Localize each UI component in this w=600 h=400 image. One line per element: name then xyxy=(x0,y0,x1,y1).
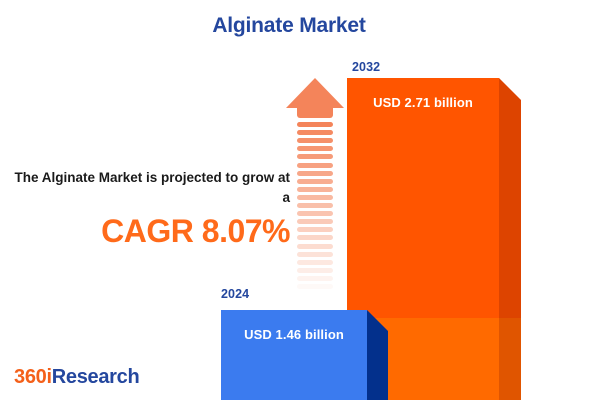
up-arrow-rung xyxy=(297,260,333,265)
page-title: Alginate Market xyxy=(0,14,578,38)
up-arrow-rung xyxy=(297,154,333,159)
brand-logo-suffix: Research xyxy=(52,366,140,388)
cagr-lead-text: The Alginate Market is projected to grow… xyxy=(12,168,290,207)
up-arrow-rung xyxy=(297,138,333,143)
up-arrow-rung xyxy=(297,171,333,176)
up-arrow-rung xyxy=(297,187,333,192)
brand-logo-prefix: 360i xyxy=(14,366,52,388)
brand-logo[interactable]: 360iResearch xyxy=(14,366,139,389)
up-arrow-rung xyxy=(297,163,333,168)
up-arrow-rung xyxy=(297,122,333,127)
up-arrow-rung xyxy=(297,146,333,151)
infographic-canvas: Alginate Market 2032 USD 2.71 billion 20… xyxy=(0,0,600,400)
up-arrow-rung xyxy=(297,203,333,208)
up-arrow-rung xyxy=(297,268,333,273)
bar-2032-side-face-lower xyxy=(499,318,521,400)
up-arrow-rung xyxy=(297,244,333,249)
up-arrow-rung xyxy=(297,276,333,281)
bar-2024-front-face xyxy=(221,310,367,400)
up-arrow-rung xyxy=(297,284,333,289)
bar-2032-value-label: USD 2.71 billion xyxy=(347,95,499,110)
up-arrow-icon xyxy=(286,78,344,294)
up-arrow-neck xyxy=(297,106,333,118)
up-arrow-rung xyxy=(297,235,333,240)
bar-2032-category-label: 2032 xyxy=(352,60,380,74)
up-arrow-rung xyxy=(297,211,333,216)
up-arrow-rung xyxy=(297,292,333,297)
up-arrow-rung xyxy=(297,195,333,200)
up-arrow-head xyxy=(286,78,344,108)
cagr-value-text: CAGR 8.07% xyxy=(12,213,290,250)
up-arrow-rung xyxy=(297,130,333,135)
bar-2024-value-label: USD 1.46 billion xyxy=(221,327,367,342)
cagr-callout: The Alginate Market is projected to grow… xyxy=(12,168,290,250)
up-arrow-rung xyxy=(297,227,333,232)
bar-2024-category-label: 2024 xyxy=(221,287,249,301)
up-arrow-rung xyxy=(297,179,333,184)
up-arrow-rung xyxy=(297,219,333,224)
up-arrow-rung xyxy=(297,252,333,257)
